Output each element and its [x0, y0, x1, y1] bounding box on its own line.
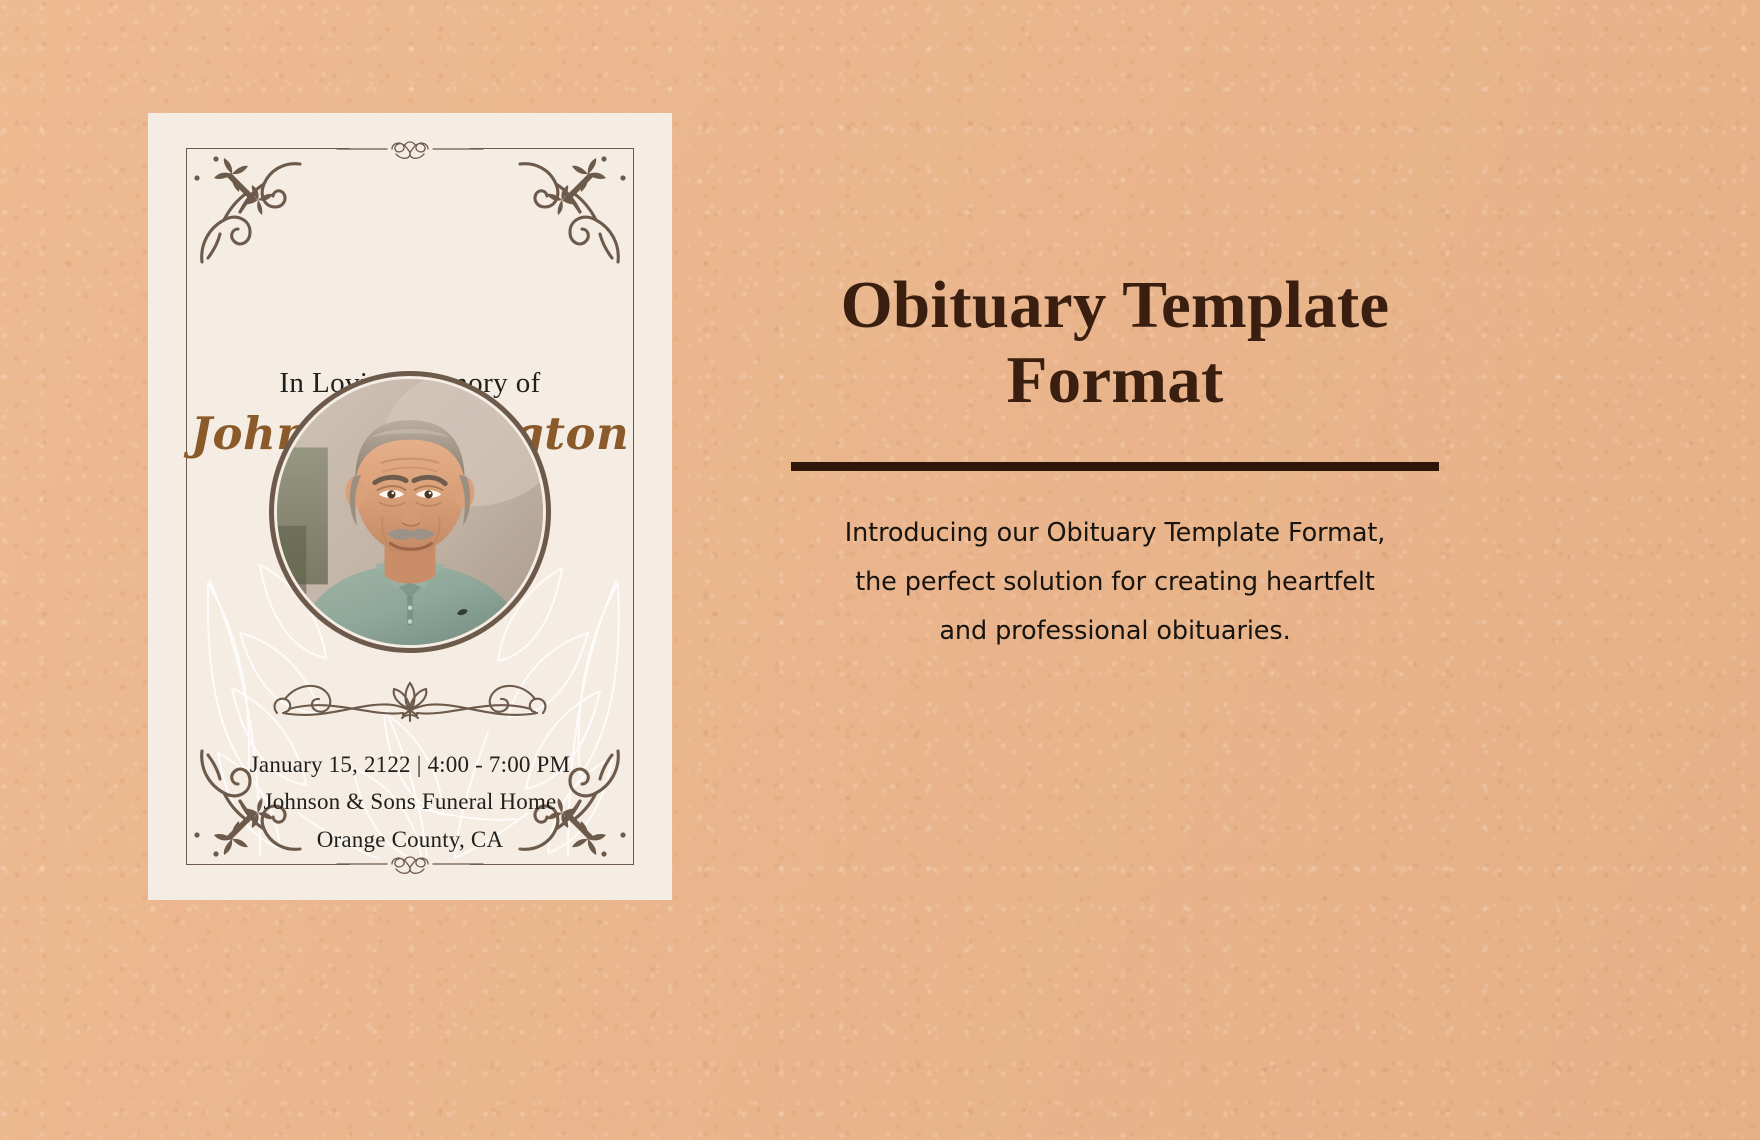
detail-venue: Johnson & Sons Funeral Home: [187, 783, 633, 820]
event-details: January 15, 2122 | 4:00 - 7:00 PM Johnso…: [187, 746, 633, 858]
promo-description: Introducing our Obituary Template Format…: [790, 509, 1440, 656]
title-divider: [791, 462, 1439, 471]
portrait-image: [277, 379, 543, 645]
card-frame: In Loving Memory of John Washington: [186, 148, 634, 865]
promo-description-line-3: and professional obituaries.: [790, 607, 1440, 656]
page-title-line-2: Format: [790, 343, 1440, 418]
flourish-divider-icon: [265, 671, 555, 731]
portrait-photo: [269, 371, 551, 653]
promo-panel: Obituary Template Format Introducing our…: [790, 268, 1440, 656]
page-title: Obituary Template Format: [790, 268, 1440, 418]
page-title-line-1: Obituary Template: [790, 268, 1440, 343]
card-content: In Loving Memory of John Washington: [187, 149, 633, 864]
detail-location: Orange County, CA: [187, 821, 633, 858]
detail-datetime: January 15, 2122 | 4:00 - 7:00 PM: [187, 746, 633, 783]
promo-description-line-1: Introducing our Obituary Template Format…: [790, 509, 1440, 558]
promo-description-line-2: the perfect solution for creating heartf…: [790, 558, 1440, 607]
memorial-card: In Loving Memory of John Washington: [148, 113, 672, 900]
